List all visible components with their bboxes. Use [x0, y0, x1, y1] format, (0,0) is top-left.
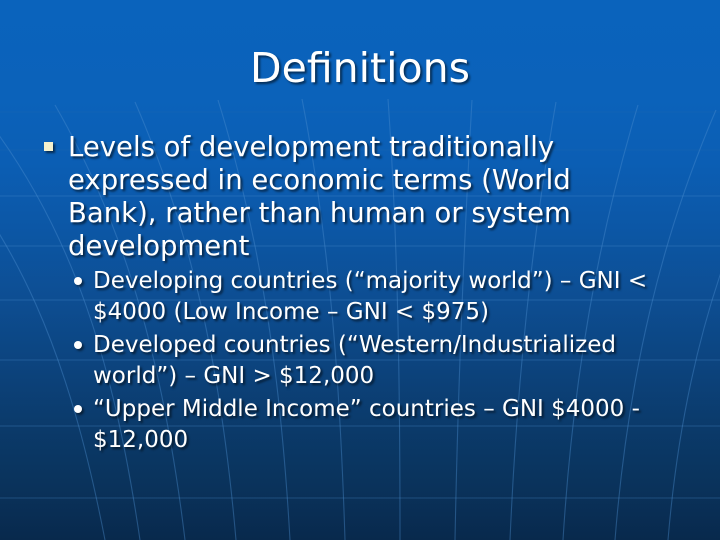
list-item: Developing countries (“majority world”) …: [68, 266, 684, 328]
sub-bullet-group: Developing countries (“majority world”) …: [68, 266, 684, 456]
sub-bullet-list: Developing countries (“majority world”) …: [68, 266, 684, 456]
list-item: “Upper Middle Income” countries – GNI $4…: [68, 394, 684, 456]
bullet-level2-text: “Upper Middle Income” countries – GNI $4…: [93, 394, 663, 456]
bullet-level2-text: Developed countries (“Western/Industrial…: [93, 330, 663, 392]
list-item: Developed countries (“Western/Industrial…: [68, 330, 684, 392]
presentation-slide: Definitions Levels of development tradit…: [0, 0, 720, 540]
list-item: Levels of development traditionally expr…: [38, 131, 684, 263]
page-title: Definitions: [0, 44, 720, 92]
square-bullet-icon: [44, 142, 53, 151]
dot-bullet-icon: [74, 277, 82, 285]
bullet-level1-text: Levels of development traditionally expr…: [68, 131, 648, 263]
dot-bullet-icon: [74, 405, 82, 413]
bullet-level2-text: Developing countries (“majority world”) …: [93, 266, 663, 328]
dot-bullet-icon: [74, 341, 82, 349]
slide-body: Levels of development traditionally expr…: [38, 131, 684, 458]
slide-content: Definitions Levels of development tradit…: [0, 0, 720, 540]
